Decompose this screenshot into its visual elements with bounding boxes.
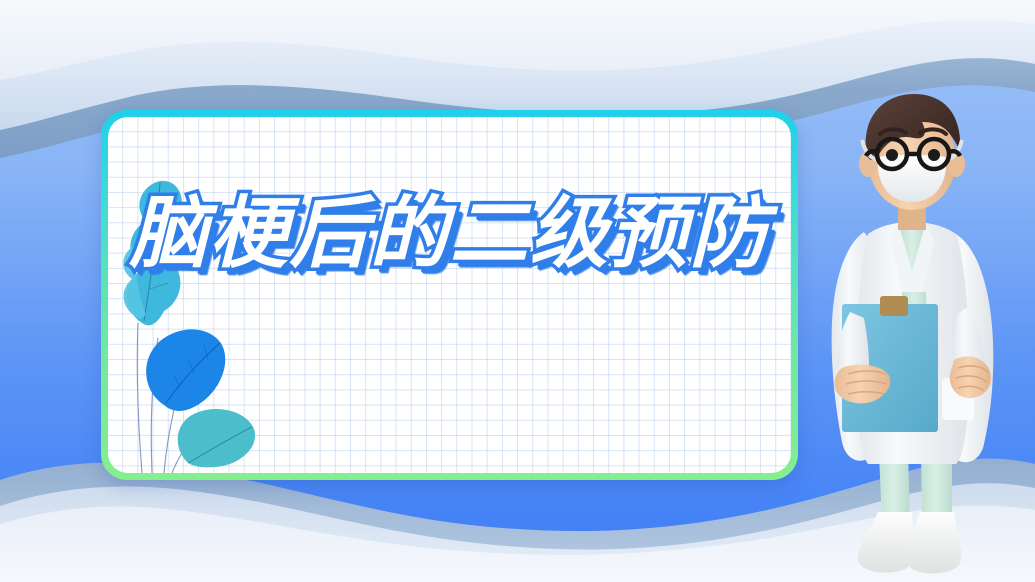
- leaf-blue: [146, 329, 225, 411]
- doctor-shoes: [858, 512, 961, 574]
- title-card: 脑梗后的二级预防: [101, 110, 798, 480]
- clipboard-clip: [880, 296, 908, 316]
- right-eye: [928, 149, 940, 161]
- leaf-aqua: [178, 409, 255, 467]
- title-container: 脑梗后的二级预防: [108, 195, 791, 273]
- slide-canvas: 脑梗后的二级预防: [0, 0, 1035, 582]
- page-title: 脑梗后的二级预防: [129, 195, 769, 273]
- grid-paper-surface: 脑梗后的二级预防: [108, 117, 791, 473]
- left-eye: [886, 149, 898, 161]
- doctor-illustration: [802, 82, 1035, 582]
- doctor-head: [859, 94, 965, 210]
